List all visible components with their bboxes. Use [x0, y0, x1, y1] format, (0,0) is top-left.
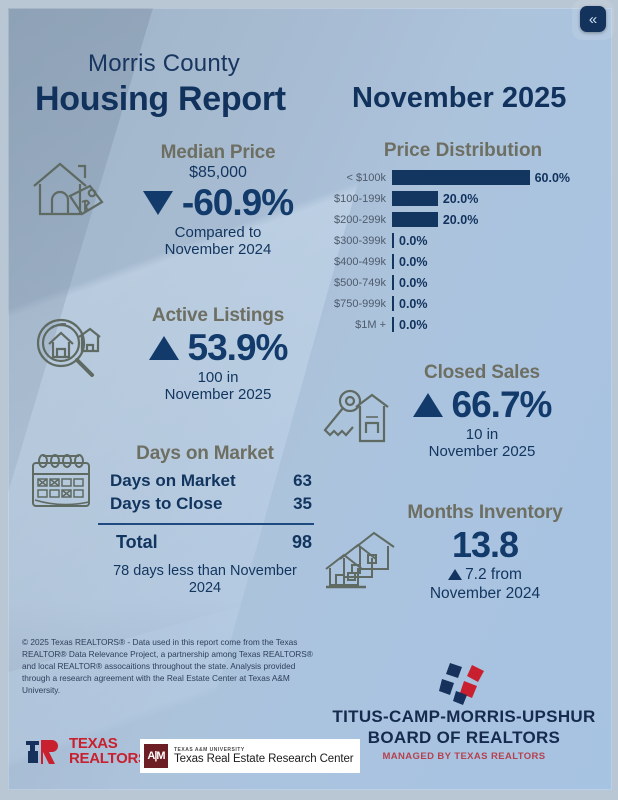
- months-inventory-change-line2: November 2024: [380, 585, 590, 604]
- active-listings-block: Active Listings 53.9% 100 in November 20…: [118, 305, 318, 404]
- chart-bar-label: $100-199k: [330, 193, 392, 205]
- board-name-line2: BOARD OF REALTORS: [330, 729, 598, 748]
- chart-bar-row: $200-299k20.0%: [330, 211, 596, 228]
- days-on-market-table: Days on Market 63 Days to Close 35 Total…: [92, 470, 318, 553]
- trend-up-icon: [413, 393, 443, 417]
- chart-bar-row: $300-399k0.0%: [330, 232, 596, 249]
- closed-sales-note-line2: November 2025: [378, 443, 586, 460]
- page-title: Housing Report: [35, 80, 286, 119]
- chart-bar-value: 60.0%: [530, 171, 570, 185]
- table-row: Days on Market 63: [92, 470, 318, 493]
- texas-realtors-logo: TEXAS REALTORS: [24, 737, 148, 767]
- trend-up-icon: [448, 569, 462, 580]
- chart-bars: < $100k60.0%$100-199k20.0%$200-299k20.0%…: [330, 169, 596, 333]
- months-inventory-change-line1: 7.2 from: [465, 566, 522, 583]
- chart-bar-label: $500-749k: [330, 277, 392, 289]
- trend-down-icon: [143, 191, 173, 215]
- chart-bar-track: 0.0%: [392, 233, 596, 248]
- chart-bar-value: 20.0%: [438, 213, 478, 227]
- median-price-change-row: -60.9%: [120, 182, 316, 224]
- table-total-row: Total 98: [92, 532, 318, 553]
- chart-bar-track: 0.0%: [392, 317, 596, 332]
- copyright-text: © 2025 Texas REALTORS® - Data used in th…: [22, 636, 314, 696]
- calendar-icon: [26, 450, 98, 516]
- chart-bar-value: 0.0%: [394, 318, 428, 332]
- dom-row-label-1: Days to Close: [110, 493, 222, 516]
- chart-bar-track: 20.0%: [392, 191, 596, 206]
- report-month: November 2025: [352, 82, 566, 115]
- chart-title: Price Distribution: [330, 140, 596, 162]
- dom-total-value: 98: [292, 532, 312, 553]
- days-on-market-note-line1: 78 days less than November: [92, 563, 318, 580]
- chart-bar-fill: [392, 170, 530, 185]
- board-of-realtors-logo: TITUS-CAMP-MORRIS-UPSHUR BOARD OF REALTO…: [330, 660, 598, 762]
- double-chevron-left-icon: «: [589, 12, 597, 27]
- median-price-block: Median Price $85,000 -60.9% Compared to …: [120, 142, 316, 259]
- chart-bar-track: 0.0%: [392, 275, 596, 290]
- dom-row-label-0: Days on Market: [110, 470, 236, 493]
- texas-realtors-line2: REALTORS: [69, 752, 148, 767]
- chart-bar-track: 0.0%: [392, 296, 596, 311]
- texas-r-logo-icon: [24, 737, 62, 767]
- days-on-market-block: Days on Market Days on Market 63 Days to…: [92, 443, 318, 598]
- active-listings-change: 53.9%: [188, 327, 288, 369]
- chart-bar-label: < $100k: [330, 172, 392, 184]
- median-price-change: -60.9%: [182, 182, 293, 224]
- atm-shield-icon: A|M: [144, 744, 168, 768]
- chart-bar-row: $1M +0.0%: [330, 316, 596, 333]
- chart-bar-row: $500-749k0.0%: [330, 274, 596, 291]
- price-distribution-chart: Price Distribution < $100k60.0%$100-199k…: [330, 140, 596, 337]
- dom-total-label: Total: [116, 532, 158, 553]
- days-on-market-note-line2: 2024: [92, 580, 318, 597]
- chart-bar-row: $100-199k20.0%: [330, 190, 596, 207]
- closed-sales-block: Closed Sales 66.7% 10 in November 2025: [378, 362, 586, 461]
- chart-bar-value: 0.0%: [394, 234, 428, 248]
- months-inventory-change-row: 7.2 from: [380, 566, 590, 585]
- chart-bar-value: 20.0%: [438, 192, 478, 206]
- chart-bar-track: 60.0%: [392, 170, 596, 185]
- months-inventory-heading: Months Inventory: [380, 502, 590, 524]
- dom-row-value-1: 35: [284, 493, 312, 516]
- median-price-note-line2: November 2024: [120, 241, 316, 258]
- dom-row-value-0: 63: [284, 470, 312, 493]
- active-listings-heading: Active Listings: [118, 305, 318, 327]
- chart-bar-track: 20.0%: [392, 212, 596, 227]
- chart-bar-label: $400-499k: [330, 256, 392, 268]
- table-divider: [98, 523, 314, 525]
- county-name: Morris County: [88, 50, 240, 78]
- trerc-logo: A|M TEXAS A&M UNIVERSITY Texas Real Esta…: [140, 739, 360, 773]
- months-inventory-value: 13.8: [380, 524, 590, 566]
- months-inventory-block: Months Inventory 13.8 7.2 from November …: [380, 502, 590, 603]
- chart-bar-label: $1M +: [330, 319, 392, 331]
- closed-sales-heading: Closed Sales: [378, 362, 586, 384]
- chart-bar-value: 0.0%: [394, 255, 428, 269]
- housing-report-page: « Morris County Housing Report November …: [0, 0, 618, 800]
- active-listings-note-line1: 100 in: [118, 369, 318, 386]
- board-managed-by: MANAGED BY TEXAS REALTORS: [330, 751, 598, 762]
- closed-sales-change: 66.7%: [452, 384, 552, 426]
- days-on-market-heading: Days on Market: [92, 443, 318, 465]
- trerc-name: Texas Real Estate Research Center: [174, 753, 354, 765]
- house-price-tag-icon: [26, 152, 108, 224]
- collapse-panel-button[interactable]: «: [580, 6, 606, 32]
- median-price-note-line1: Compared to: [120, 224, 316, 241]
- chart-bar-label: $200-299k: [330, 214, 392, 226]
- magnifier-house-icon: [30, 315, 110, 385]
- chart-bar-row: $750-999k0.0%: [330, 295, 596, 312]
- trend-up-icon: [149, 336, 179, 360]
- chart-bar-value: 0.0%: [394, 276, 428, 290]
- chart-bar-fill: [392, 191, 438, 206]
- closed-sales-note-line1: 10 in: [378, 426, 586, 443]
- chart-bar-track: 0.0%: [392, 254, 596, 269]
- active-listings-note-line2: November 2025: [118, 386, 318, 403]
- chart-bar-label: $750-999k: [330, 298, 392, 310]
- median-price-heading: Median Price: [120, 142, 316, 164]
- median-price-value: $85,000: [120, 164, 316, 182]
- chart-bar-label: $300-399k: [330, 235, 392, 247]
- chart-bar-row: < $100k60.0%: [330, 169, 596, 186]
- chart-bar-fill: [392, 212, 438, 227]
- board-name-line1: TITUS-CAMP-MORRIS-UPSHUR: [330, 708, 598, 727]
- pinwheel-logo-icon: [330, 660, 598, 706]
- chart-bar-row: $400-499k0.0%: [330, 253, 596, 270]
- active-listings-change-row: 53.9%: [118, 327, 318, 369]
- closed-sales-change-row: 66.7%: [378, 384, 586, 426]
- table-row: Days to Close 35: [92, 493, 318, 516]
- chart-bar-value: 0.0%: [394, 297, 428, 311]
